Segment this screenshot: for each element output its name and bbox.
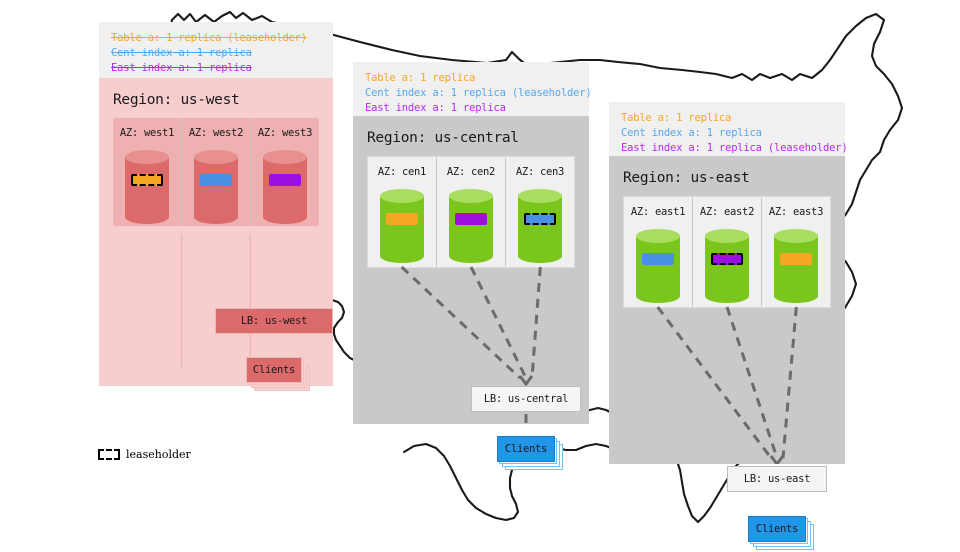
cylinder-top-ellipse xyxy=(705,229,749,243)
replica-chip[interactable] xyxy=(455,213,487,225)
replica-legend-us-west: Table a: 1 replica (leaseholder)Cent ind… xyxy=(99,22,333,78)
az-label: AZ: cen2 xyxy=(447,166,495,178)
replica-chip-leaseholder[interactable] xyxy=(131,174,163,186)
load-balancer-box-us-east[interactable]: LB: us-east xyxy=(727,466,827,492)
cylinder-top-ellipse xyxy=(380,189,424,203)
diagram-canvas: Table a: 1 replica (leaseholder)Cent ind… xyxy=(0,0,960,540)
az-label: AZ: west1 xyxy=(120,127,174,139)
legend-line-east: East index a: 1 replica xyxy=(365,101,577,116)
az-label: AZ: east1 xyxy=(631,206,685,218)
database-node-cylinder[interactable] xyxy=(380,189,424,263)
region-panel-us-central[interactable]: Table a: 1 replicaCent index a: 1 replic… xyxy=(353,62,589,424)
az-container-us-central: AZ: cen1AZ: cen2AZ: cen3 xyxy=(367,156,575,268)
az-label: AZ: east2 xyxy=(700,206,754,218)
az-label: AZ: east3 xyxy=(769,206,823,218)
cylinder-body xyxy=(449,196,493,256)
replica-legend-us-east: Table a: 1 replicaCent index a: 1 replic… xyxy=(609,102,845,156)
database-node-cylinder[interactable] xyxy=(705,229,749,303)
arrow-az1-to-lb xyxy=(402,267,520,378)
database-node-cylinder[interactable] xyxy=(194,150,238,224)
database-node-cylinder[interactable] xyxy=(125,150,169,224)
replica-legend-us-central: Table a: 1 replicaCent index a: 1 replic… xyxy=(353,62,589,116)
region-body-us-west: Region: us-westAZ: west1AZ: west2AZ: wes… xyxy=(99,78,333,386)
legend-line-cent: Cent index a: 1 replica (leaseholder) xyxy=(365,86,577,101)
replica-chip[interactable] xyxy=(200,174,232,186)
database-node-cylinder[interactable] xyxy=(263,150,307,224)
legend-line-east: East index a: 1 replica (leaseholder) xyxy=(621,141,833,156)
cylinder-top-ellipse xyxy=(774,229,818,243)
az-cell-west1[interactable]: AZ: west1 xyxy=(113,118,181,226)
database-node-cylinder[interactable] xyxy=(774,229,818,303)
region-body-us-east: Region: us-eastAZ: east1AZ: east2AZ: eas… xyxy=(609,156,845,464)
cylinder-body xyxy=(263,157,307,217)
az-cell-east2[interactable]: AZ: east2 xyxy=(692,197,761,307)
cylinder-top-ellipse xyxy=(518,189,562,203)
clients-stack-us-east[interactable]: Clients xyxy=(748,516,816,552)
cylinder-top-ellipse xyxy=(636,229,680,243)
legend-line-east: East index a: 1 replica xyxy=(111,61,321,76)
cylinder-body xyxy=(518,196,562,256)
region-title-us-west: Region: us-west xyxy=(99,78,333,118)
cylinder-body xyxy=(774,236,818,296)
region-body-us-central: Region: us-centralAZ: cen1AZ: cen2AZ: ce… xyxy=(353,116,589,424)
az-cell-cen3[interactable]: AZ: cen3 xyxy=(505,157,574,267)
region-panel-us-east[interactable]: Table a: 1 replicaCent index a: 1 replic… xyxy=(609,102,845,464)
database-node-cylinder[interactable] xyxy=(518,189,562,263)
database-node-cylinder[interactable] xyxy=(636,229,680,303)
cylinder-top-ellipse xyxy=(194,150,238,164)
cylinder-top-ellipse xyxy=(263,150,307,164)
az-cell-west2[interactable]: AZ: west2 xyxy=(181,118,250,226)
load-balancer-box-us-west[interactable]: LB: us-west xyxy=(215,308,333,334)
dashed-rectangle-icon xyxy=(98,449,120,460)
az-cell-cen1[interactable]: AZ: cen1 xyxy=(368,157,436,267)
az-cell-west3[interactable]: AZ: west3 xyxy=(250,118,319,226)
arrow-az2-to-lb xyxy=(471,267,526,378)
clients-box-label[interactable]: Clients xyxy=(497,436,555,462)
az-label: AZ: west2 xyxy=(189,127,243,139)
az-label: AZ: cen1 xyxy=(378,166,426,178)
arrow-az1-to-lb xyxy=(658,307,771,458)
replica-chip-leaseholder[interactable] xyxy=(524,213,556,225)
legend-line-cent: Cent index a: 1 replica xyxy=(111,46,321,61)
arrowhead-into-lb xyxy=(771,456,783,464)
az-label: AZ: west3 xyxy=(258,127,312,139)
az-cell-east3[interactable]: AZ: east3 xyxy=(761,197,830,307)
cylinder-body xyxy=(194,157,238,217)
database-node-cylinder[interactable] xyxy=(449,189,493,263)
replica-chip[interactable] xyxy=(269,174,301,186)
arrow-az2-to-lb xyxy=(727,307,777,458)
replica-chip-leaseholder[interactable] xyxy=(711,253,743,265)
legend-line-table: Table a: 1 replica xyxy=(621,111,833,126)
region-panel-us-west[interactable]: Table a: 1 replica (leaseholder)Cent ind… xyxy=(99,22,333,386)
cylinder-body xyxy=(705,236,749,296)
arrow-az3-to-lb xyxy=(532,267,540,378)
region-title-us-east: Region: us-east xyxy=(609,156,845,196)
replica-chip[interactable] xyxy=(642,253,674,265)
cylinder-body xyxy=(380,196,424,256)
legend-line-cent: Cent index a: 1 replica xyxy=(621,126,833,141)
az-container-us-west: AZ: west1AZ: west2AZ: west3 xyxy=(113,118,319,226)
replica-chip[interactable] xyxy=(386,213,418,225)
load-balancer-box-us-central[interactable]: LB: us-central xyxy=(471,386,581,412)
leaseholder-legend: leaseholder xyxy=(98,448,191,461)
leaseholder-legend-label: leaseholder xyxy=(126,448,191,461)
az-cell-east1[interactable]: AZ: east1 xyxy=(624,197,692,307)
cylinder-top-ellipse xyxy=(125,150,169,164)
cylinder-body xyxy=(636,236,680,296)
replica-chip[interactable] xyxy=(780,253,812,265)
clients-stack-us-west[interactable]: Clients xyxy=(246,357,312,393)
legend-line-table: Table a: 1 replica xyxy=(365,71,577,86)
clients-box-label[interactable]: Clients xyxy=(246,357,302,383)
az-container-us-east: AZ: east1AZ: east2AZ: east3 xyxy=(623,196,831,308)
clients-stack-us-central[interactable]: Clients xyxy=(497,436,565,472)
cylinder-body xyxy=(125,157,169,217)
cylinder-top-ellipse xyxy=(449,189,493,203)
az-cell-cen2[interactable]: AZ: cen2 xyxy=(436,157,505,267)
az-label: AZ: cen3 xyxy=(516,166,564,178)
arrowhead-into-lb xyxy=(520,376,532,384)
region-title-us-central: Region: us-central xyxy=(353,116,589,156)
legend-line-table: Table a: 1 replica (leaseholder) xyxy=(111,31,321,46)
clients-box-label[interactable]: Clients xyxy=(748,516,806,542)
arrow-az3-to-lb xyxy=(783,307,796,458)
